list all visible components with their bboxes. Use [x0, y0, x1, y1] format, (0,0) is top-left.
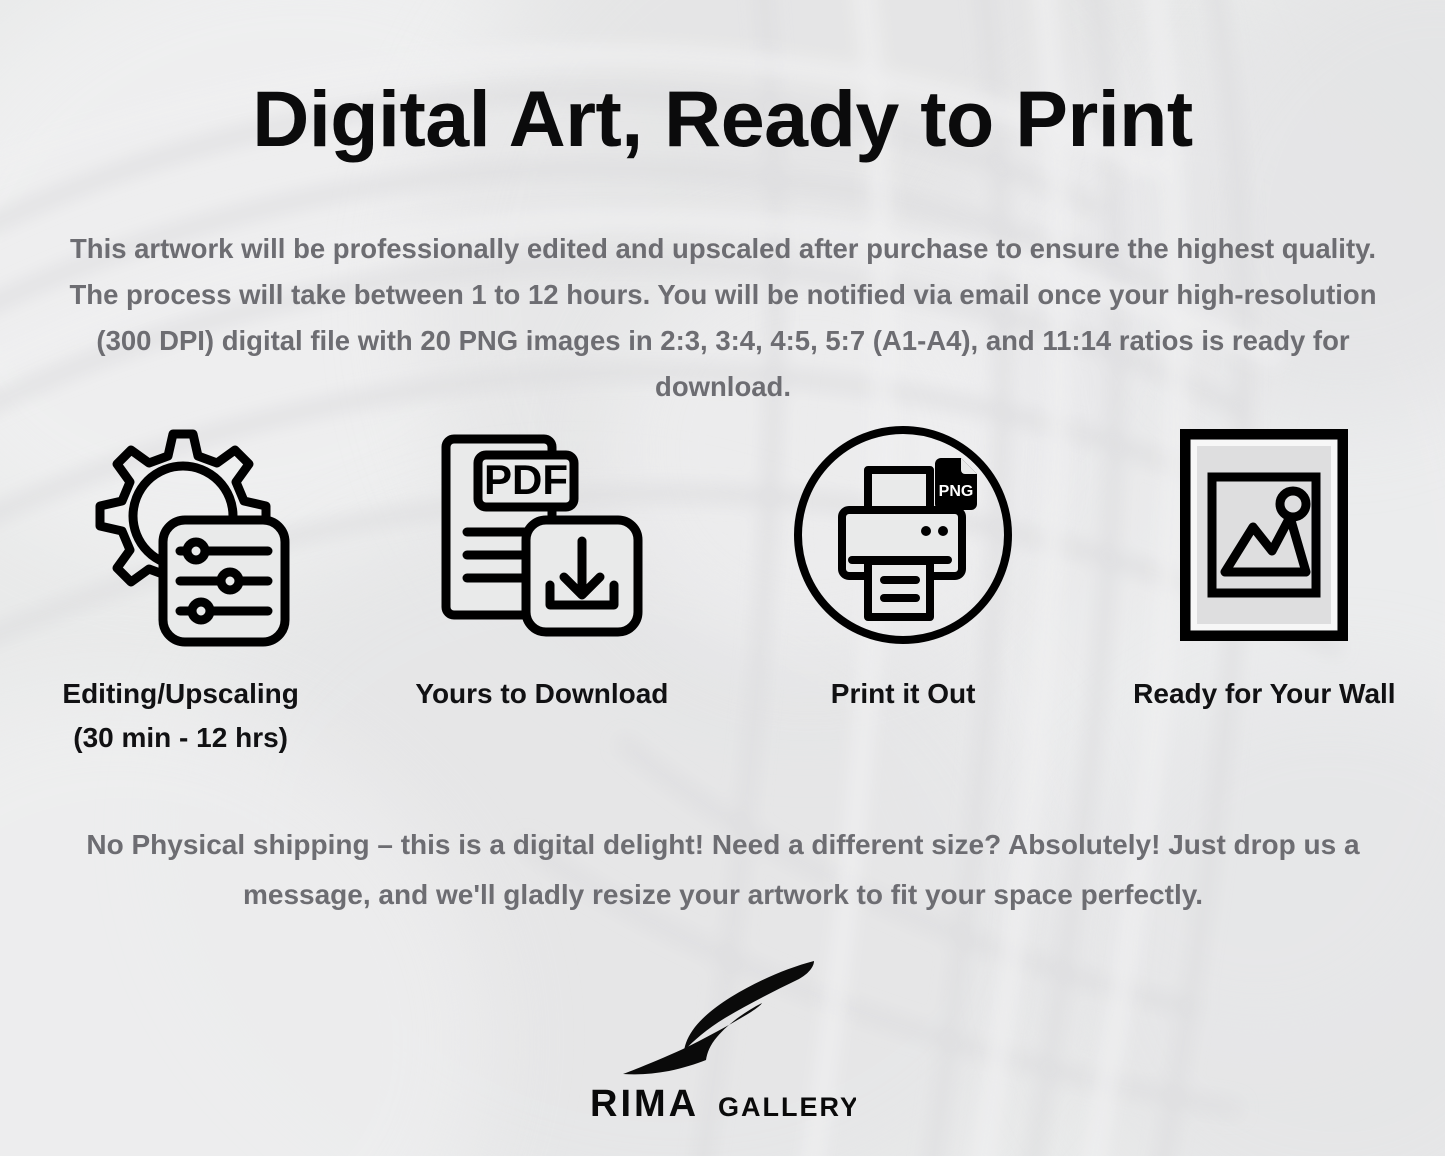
feature-row: Editing/Upscaling (30 min - 12 hrs) — [0, 420, 1445, 760]
promo-graphic: Digital Art, Ready to Print This artwork… — [0, 0, 1445, 1156]
pdf-download-icon: PDF — [434, 420, 650, 650]
png-badge-label: PNG — [939, 483, 974, 500]
feature-label: Editing/Upscaling (30 min - 12 hrs) — [62, 672, 298, 760]
feature-label: Ready for Your Wall — [1133, 672, 1395, 716]
outro-paragraph: No Physical shipping – this is a digital… — [48, 820, 1398, 920]
feature-item-print-it-out: PNG Print it Out — [723, 420, 1084, 716]
png-badge: PNG — [935, 458, 977, 510]
pdf-badge-label: PDF — [484, 456, 568, 503]
gear-sliders-icon — [65, 420, 297, 650]
feature-item-editing-upscaling: Editing/Upscaling (30 min - 12 hrs) — [0, 420, 361, 760]
brand-logo: RIMA GALLERY — [0, 955, 1445, 1125]
brand-wordmark: RIMA GALLERY — [590, 1083, 856, 1125]
framed-picture-icon — [1180, 420, 1348, 650]
feature-label: Print it Out — [831, 672, 976, 716]
feature-item-ready-for-your-wall: Ready for Your Wall — [1084, 420, 1445, 716]
page-title: Digital Art, Ready to Print — [0, 79, 1445, 158]
printer-circle-icon: PNG — [790, 420, 1016, 650]
brand-name-secondary: GALLERY — [718, 1092, 856, 1122]
feature-item-yours-to-download: PDF Yours to Download — [361, 420, 722, 716]
intro-paragraph: This artwork will be professionally edit… — [48, 226, 1398, 410]
feature-label: Yours to Download — [415, 672, 668, 716]
rima-swoosh-logo-icon — [611, 955, 835, 1077]
brand-name-primary: RIMA — [590, 1083, 699, 1125]
